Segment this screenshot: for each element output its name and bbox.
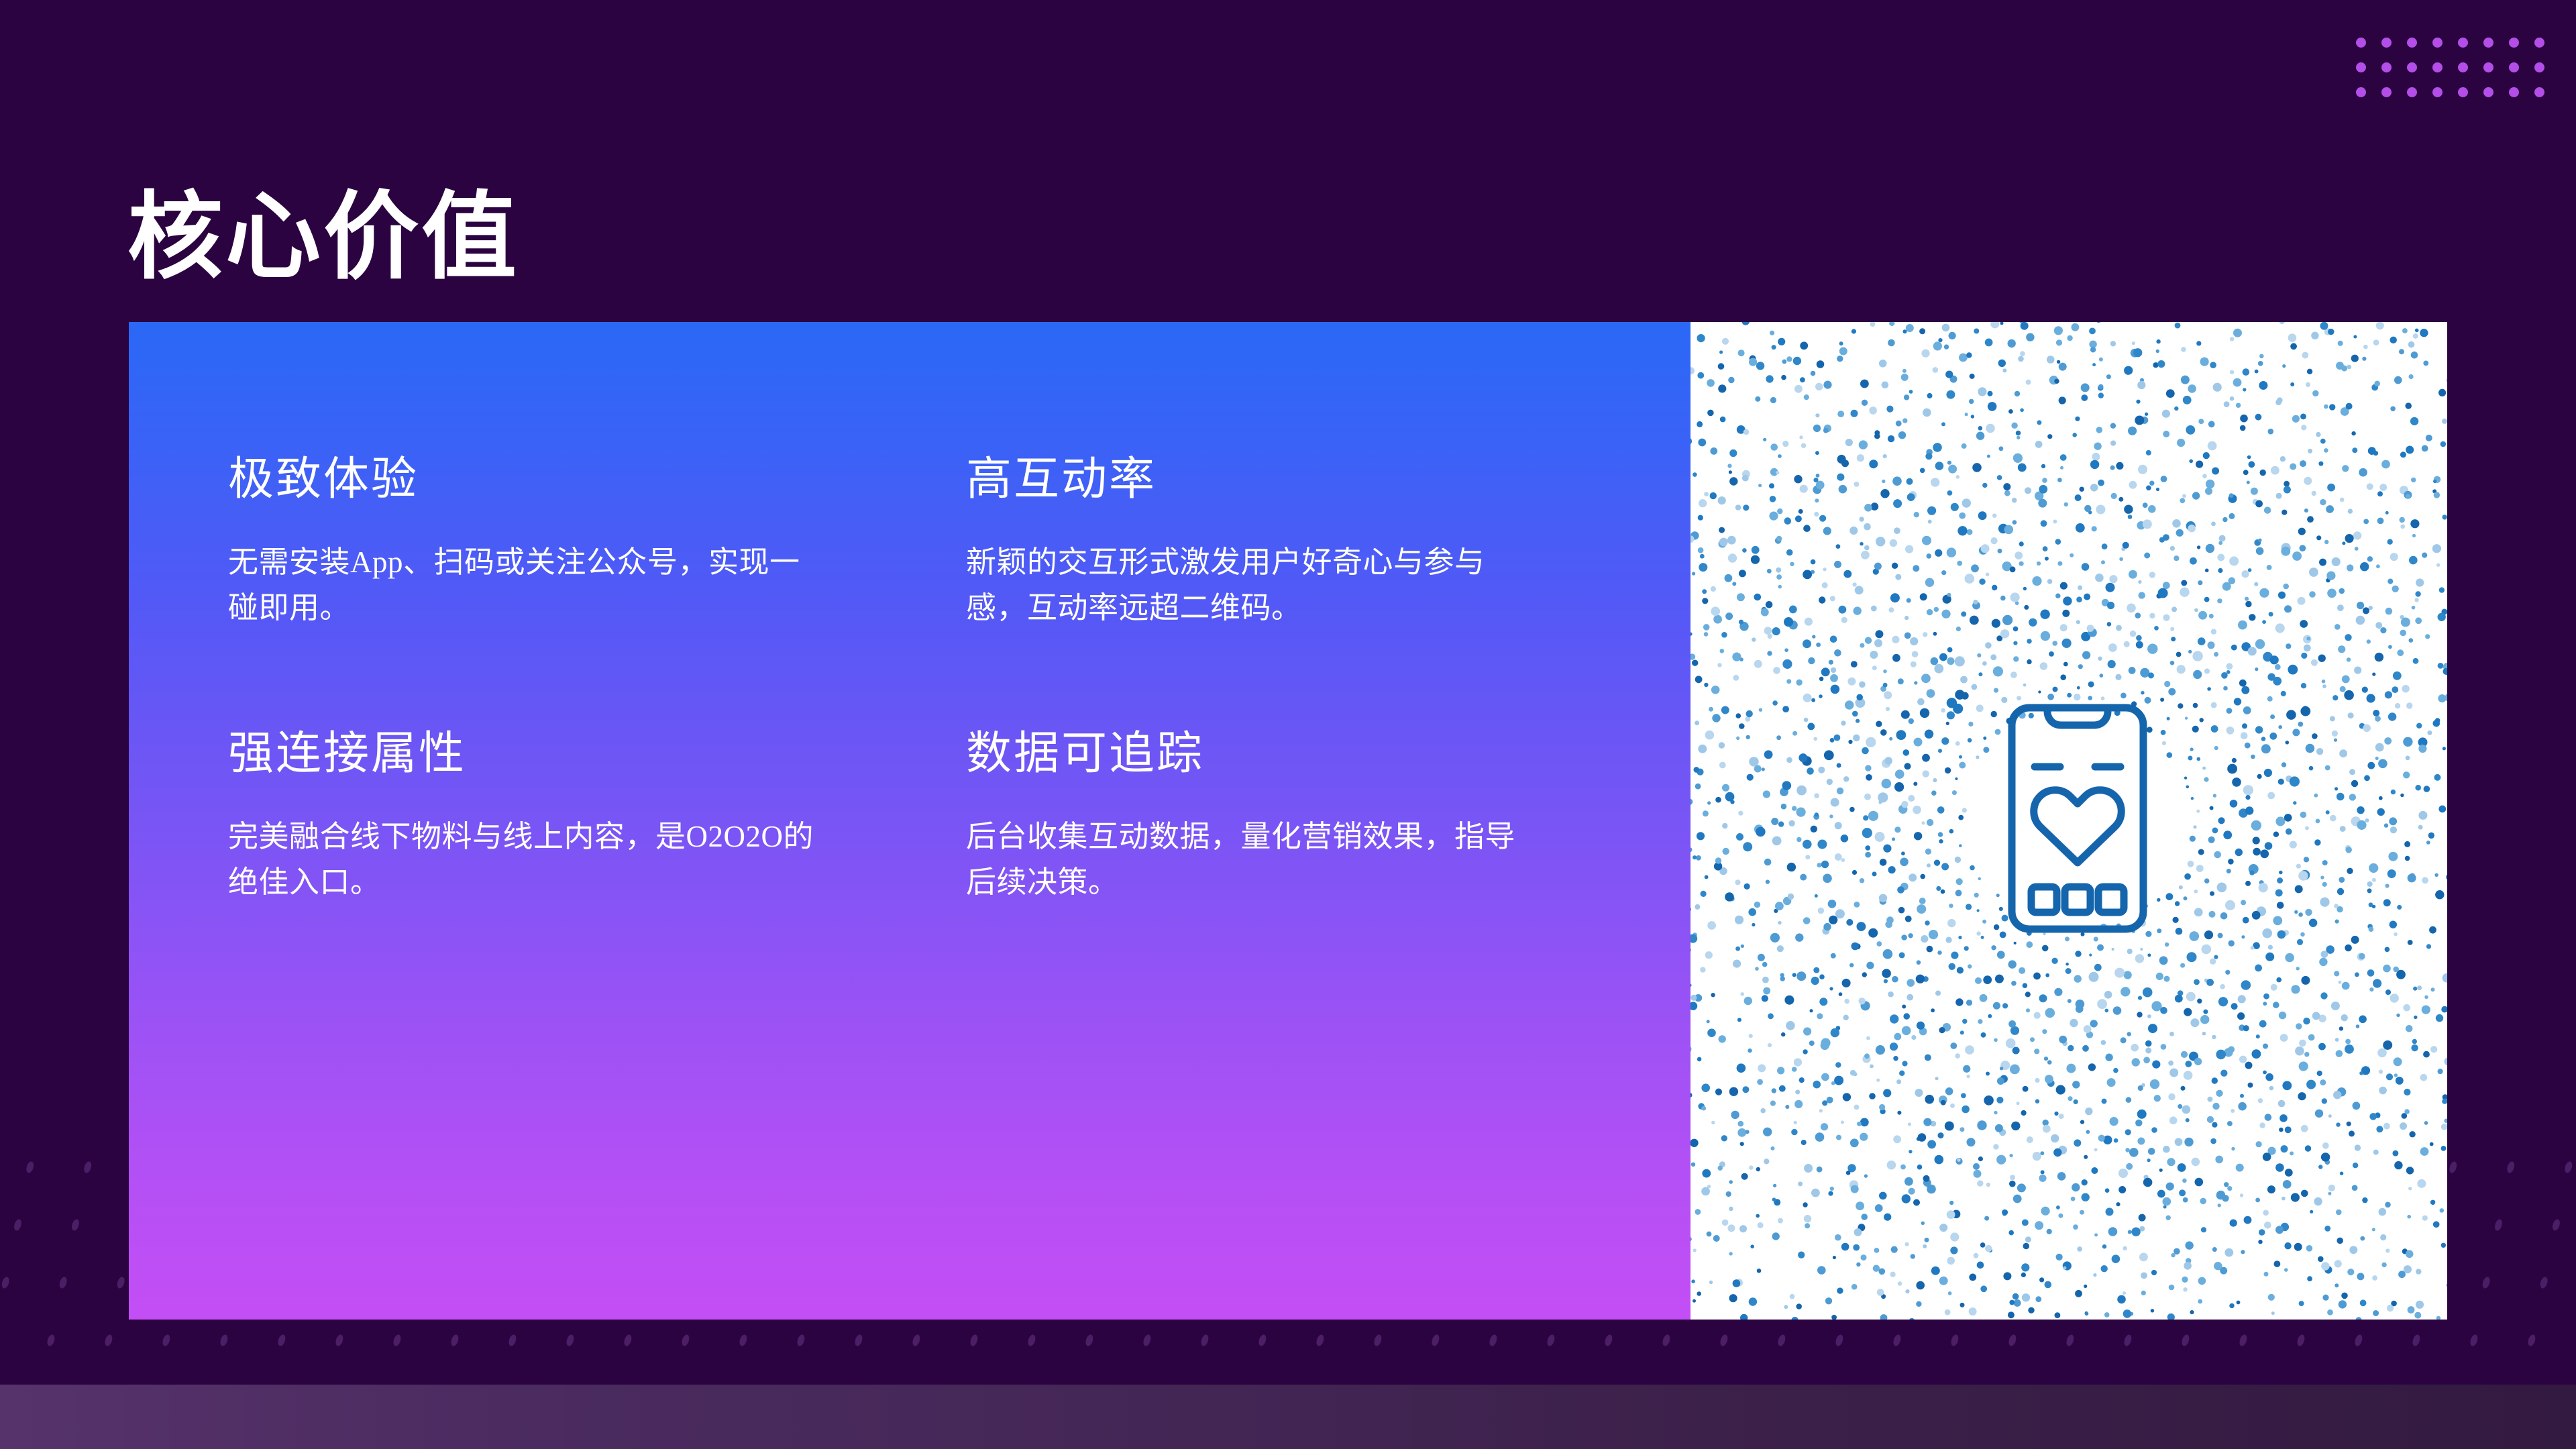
halftone-dot (1892, 563, 1898, 569)
halftone-dot (1828, 900, 1837, 908)
halftone-dot (2175, 323, 2181, 329)
halftone-dot (2100, 674, 2104, 678)
halftone-dot (1705, 875, 1709, 879)
halftone-dot (2259, 588, 2269, 598)
halftone-dot (2147, 727, 2153, 733)
halftone-dot (2388, 852, 2398, 861)
halftone-dot (1908, 1122, 1911, 1126)
halftone-dot (2208, 421, 2215, 427)
halftone-dot (1707, 1232, 1712, 1237)
halftone-dot (1796, 786, 1807, 796)
halftone-dot (2264, 769, 2272, 777)
halftone-dot (2057, 478, 2062, 482)
halftone-dot (1919, 898, 1926, 904)
halftone-dot (2190, 557, 2197, 565)
halftone-dot (1931, 790, 1937, 796)
halftone-dot (1790, 562, 1794, 566)
halftone-dot (1936, 886, 1941, 891)
halftone-dot (2202, 767, 2206, 770)
halftone-dot (1966, 1000, 1972, 1006)
halftone-dot (1991, 945, 1996, 950)
halftone-dot (1718, 384, 1726, 392)
halftone-dot (2150, 1079, 2159, 1089)
halftone-dot (2420, 1074, 2428, 1081)
halftone-dot (2146, 486, 2151, 491)
halftone-dot (2349, 769, 2355, 775)
halftone-dot (1883, 683, 1888, 688)
halftone-dot (1883, 845, 1891, 853)
halftone-dot (1880, 1314, 1888, 1320)
halftone-dot (2010, 566, 2016, 572)
halftone-dot (2014, 1299, 2021, 1307)
halftone-dot (2252, 1049, 2261, 1059)
halftone-dot (1977, 1262, 1984, 1269)
halftone-dot (2314, 794, 2318, 798)
halftone-dot (1896, 730, 1907, 740)
halftone-dot (2275, 1226, 2284, 1234)
halftone-dot (1803, 694, 1812, 702)
halftone-dot (2424, 996, 2428, 999)
halftone-dot (2425, 634, 2430, 639)
halftone-dot (2340, 686, 2346, 692)
halftone-dot (2351, 355, 2359, 362)
halftone-dot (2185, 1061, 2192, 1067)
halftone-dot (2226, 663, 2233, 669)
halftone-dot (1830, 636, 1837, 643)
halftone-dot (1852, 582, 1856, 586)
halftone-dot (2353, 335, 2357, 339)
halftone-dot (1977, 1180, 1983, 1186)
halftone-dot (1907, 979, 1915, 987)
halftone-dot (2182, 494, 2186, 498)
halftone-dot (1835, 822, 1842, 829)
halftone-dot (1762, 767, 1765, 771)
halftone-dot (2139, 1214, 2146, 1222)
halftone-dot (1892, 837, 1895, 841)
halftone-dot (1693, 1248, 1697, 1252)
halftone-dot (1690, 367, 1695, 374)
halftone-dot (2157, 1190, 2165, 1198)
halftone-dot (1875, 630, 1883, 638)
halftone-dot (1971, 415, 1974, 418)
decor-dot (2483, 38, 2493, 48)
halftone-dot (2193, 670, 2202, 679)
halftone-dot (1939, 1277, 1948, 1285)
halftone-dot (2094, 1148, 2098, 1151)
halftone-dot (2180, 588, 2189, 597)
halftone-dot (1749, 1165, 1753, 1169)
halftone-dot (1776, 735, 1781, 740)
halftone-dot (1801, 443, 1806, 448)
halftone-dot (1851, 1185, 1859, 1193)
halftone-dot (2230, 800, 2238, 808)
halftone-dot (2318, 655, 2326, 662)
halftone-dot (1857, 1122, 1862, 1126)
halftone-dot (2198, 637, 2206, 645)
halftone-dot (2322, 684, 2326, 688)
halftone-dot (1693, 472, 1697, 477)
halftone-dot (1907, 493, 1915, 501)
halftone-dot (1819, 974, 1825, 979)
halftone-dot (1875, 1204, 1883, 1212)
halftone-burst-illustration (1690, 322, 2447, 1320)
halftone-dot (1899, 952, 1905, 958)
halftone-dot (2084, 1155, 2088, 1159)
halftone-dot (2342, 982, 2350, 990)
halftone-dot (2282, 1081, 2292, 1090)
halftone-dot (2074, 694, 2080, 700)
halftone-dot (1698, 515, 1703, 521)
halftone-dot (2334, 971, 2339, 976)
halftone-dot (2006, 1038, 2016, 1049)
halftone-dot (1994, 1111, 1997, 1114)
halftone-dot (2381, 460, 2390, 469)
halftone-dot (1927, 553, 1932, 559)
halftone-dot (1860, 380, 1869, 388)
halftone-dot (2438, 1069, 2443, 1074)
halftone-dot (1846, 919, 1853, 926)
halftone-dot (2019, 541, 2024, 546)
halftone-dot (2288, 333, 2297, 342)
halftone-dot (1691, 1279, 1695, 1283)
halftone-dot (2192, 492, 2200, 499)
halftone-dot (1762, 962, 1768, 967)
halftone-dot (1880, 859, 1887, 866)
halftone-dot (2309, 568, 2318, 577)
halftone-dot (1877, 1289, 1884, 1296)
halftone-dot (2300, 460, 2306, 467)
halftone-dot (2143, 502, 2148, 508)
halftone-dot (2446, 873, 2447, 880)
halftone-dot (2085, 1108, 2092, 1115)
halftone-dot (2375, 622, 2382, 629)
halftone-dot (1729, 1180, 1733, 1184)
halftone-dot (1985, 1245, 1992, 1252)
halftone-dot (2004, 490, 2010, 496)
halftone-dot (2275, 890, 2283, 897)
halftone-dot (1982, 661, 1987, 666)
halftone-dot (1815, 1132, 1825, 1142)
halftone-dot (2047, 1229, 2052, 1234)
halftone-dot (2065, 963, 2069, 966)
halftone-dot (1819, 596, 1825, 603)
halftone-dot (1837, 1287, 1843, 1293)
halftone-dot (2334, 1260, 2342, 1267)
halftone-dot (1921, 935, 1928, 943)
halftone-dot (1776, 471, 1779, 474)
halftone-dot (2394, 932, 2397, 936)
halftone-dot (2055, 594, 2060, 598)
halftone-dot (2336, 1210, 2342, 1216)
halftone-dot (1776, 568, 1781, 573)
halftone-dot (2102, 1099, 2107, 1104)
halftone-dot (2245, 601, 2251, 607)
halftone-dot (1746, 735, 1750, 739)
halftone-dot (2047, 1060, 2052, 1065)
halftone-dot (2088, 1063, 2096, 1071)
halftone-dot (2119, 557, 2123, 561)
halftone-dot (2171, 1253, 2175, 1257)
halftone-dot (2148, 1024, 2157, 1033)
halftone-dot (1937, 951, 1941, 955)
halftone-dot (1939, 1027, 1945, 1033)
halftone-dot (1719, 742, 1725, 748)
halftone-dot (2163, 614, 2169, 621)
halftone-dot (1690, 799, 1693, 805)
halftone-dot (2338, 981, 2341, 984)
halftone-dot (2019, 561, 2024, 566)
halftone-dot (2275, 623, 2285, 633)
halftone-dot (1904, 616, 1909, 620)
halftone-dot (2092, 453, 2100, 461)
halftone-dot (1690, 983, 1692, 987)
halftone-dot (2299, 1061, 2308, 1071)
halftone-dot (1993, 1002, 2000, 1010)
halftone-dot (2194, 825, 2197, 828)
halftone-dot (2151, 1270, 2157, 1275)
halftone-dot (1701, 1106, 1706, 1111)
halftone-dot (1726, 1191, 1731, 1197)
halftone-dot (1786, 356, 1792, 362)
halftone-dot (1769, 483, 1774, 488)
halftone-dot (2151, 1309, 2154, 1312)
halftone-dot (1947, 698, 1957, 708)
halftone-dot (1856, 694, 1863, 701)
halftone-dot (2090, 1020, 2098, 1027)
halftone-dot (2408, 940, 2413, 945)
halftone-dot (1718, 496, 1726, 504)
halftone-dot (2054, 379, 2059, 384)
halftone-dot (2375, 757, 2379, 760)
halftone-dot (1702, 598, 1708, 604)
halftone-dot (2438, 389, 2446, 396)
halftone-dot (1923, 409, 1931, 417)
halftone-dot (1921, 674, 1931, 683)
halftone-dot (2126, 1163, 2133, 1170)
halftone-dot (2384, 823, 2388, 827)
halftone-dot (1894, 527, 1900, 534)
halftone-dot (2020, 351, 2025, 356)
halftone-dot (2198, 849, 2204, 855)
halftone-dot (1929, 930, 1938, 939)
halftone-dot (1711, 606, 1720, 616)
halftone-dot (2190, 836, 2196, 842)
halftone-dot (2075, 951, 2081, 957)
halftone-dot (1986, 1072, 1990, 1076)
halftone-dot (2409, 638, 2414, 643)
halftone-dot (1922, 821, 1925, 824)
halftone-dot (2325, 765, 2330, 771)
halftone-dot (2393, 1150, 2399, 1157)
halftone-dot (2132, 341, 2135, 345)
halftone-dot (1760, 1108, 1766, 1114)
halftone-dot (1892, 636, 1899, 643)
halftone-dot (2218, 568, 2222, 573)
halftone-dot (2121, 1037, 2127, 1043)
halftone-dot (1945, 1087, 1953, 1095)
halftone-dot (2181, 347, 2186, 352)
halftone-dot (2212, 1122, 2217, 1128)
halftone-dot (2269, 612, 2273, 616)
halftone-dot (2415, 591, 2420, 596)
halftone-dot (1748, 908, 1756, 916)
halftone-dot (2385, 608, 2393, 615)
halftone-dot (2129, 570, 2137, 579)
halftone-dot (2398, 906, 2402, 910)
halftone-dot (2380, 1234, 2386, 1240)
halftone-dot (1733, 960, 1741, 968)
halftone-dot (2045, 557, 2049, 561)
halftone-dot (2241, 980, 2251, 990)
halftone-dot (2359, 953, 2365, 959)
halftone-dot (2268, 429, 2274, 435)
halftone-dot (2186, 425, 2195, 435)
halftone-dot (1862, 972, 1867, 977)
halftone-dot (1931, 1267, 1940, 1275)
halftone-dot (2108, 660, 2116, 668)
halftone-dot (2226, 670, 2231, 674)
halftone-dot (1901, 710, 1910, 719)
halftone-dot (1925, 920, 1929, 925)
halftone-dot (2379, 1208, 2387, 1216)
halftone-dot (1739, 620, 1743, 625)
halftone-dot (2356, 1317, 2362, 1320)
halftone-dot (2039, 485, 2047, 494)
halftone-dot (2229, 493, 2234, 498)
halftone-dot (2124, 641, 2130, 647)
halftone-dot (1947, 1210, 1955, 1219)
halftone-dot (2055, 539, 2061, 545)
halftone-dot (2412, 606, 2416, 610)
halftone-dot (2433, 720, 2440, 727)
halftone-dot (2357, 1273, 2364, 1280)
halftone-dot (2169, 1116, 2178, 1124)
halftone-dot (1911, 1254, 1915, 1258)
halftone-dot (2000, 932, 2006, 938)
halftone-dot (2037, 420, 2041, 425)
halftone-dot (2241, 570, 2249, 578)
halftone-dot (2276, 493, 2282, 499)
halftone-dot (2301, 653, 2307, 659)
halftone-dot (1917, 698, 1925, 706)
halftone-dot (2360, 1236, 2365, 1241)
halftone-dot (2149, 481, 2154, 486)
halftone-dot (1837, 474, 1844, 481)
halftone-dot (2251, 946, 2255, 950)
halftone-dot (2053, 520, 2057, 524)
halftone-dot (2353, 531, 2361, 539)
halftone-dot (2367, 694, 2375, 702)
halftone-dot (1951, 503, 1959, 511)
halftone-dot (1973, 600, 1978, 604)
halftone-dot (2395, 703, 2400, 708)
halftone-dot (2152, 1061, 2160, 1069)
halftone-dot (2217, 883, 2227, 893)
halftone-dot (2166, 1216, 2171, 1220)
halftone-dot (2396, 1014, 2400, 1017)
halftone-dot (2171, 606, 2177, 612)
halftone-dot (1704, 632, 1709, 637)
halftone-dot (2385, 691, 2392, 698)
halftone-dot (1694, 767, 1700, 773)
halftone-dot (2243, 368, 2250, 376)
halftone-dot (1970, 374, 1975, 379)
halftone-dot (2041, 520, 2047, 527)
halftone-dot (1978, 1157, 1983, 1161)
halftone-dot (1969, 1307, 1977, 1316)
halftone-dot (2405, 856, 2410, 861)
halftone-dot (1749, 1297, 1757, 1305)
halftone-dot (2130, 631, 2137, 637)
halftone-dot (2124, 971, 2132, 979)
halftone-dot (1998, 360, 2006, 367)
halftone-dot (1995, 975, 2004, 983)
halftone-dot (1901, 851, 1905, 855)
halftone-dot (2304, 1052, 2309, 1057)
halftone-dot (2200, 358, 2209, 366)
halftone-dot (1933, 367, 1939, 373)
halftone-dot (2121, 693, 2127, 699)
halftone-dot (1997, 951, 2005, 959)
halftone-dot (2105, 1188, 2110, 1193)
halftone-dot (2101, 1265, 2108, 1272)
halftone-dot (1799, 509, 1803, 514)
halftone-dot (1851, 329, 1856, 333)
halftone-dot (2226, 708, 2233, 714)
halftone-dot (2316, 432, 2320, 437)
halftone-dot (2279, 322, 2285, 324)
halftone-dot (1991, 537, 1998, 544)
halftone-dot (2434, 492, 2440, 498)
halftone-dot (1908, 795, 1915, 802)
halftone-dot (1894, 1033, 1901, 1040)
halftone-dot (1804, 394, 1809, 400)
halftone-dot (1853, 735, 1860, 741)
halftone-dot (2433, 1221, 2440, 1228)
halftone-dot (2270, 714, 2275, 719)
halftone-dot (2196, 341, 2201, 345)
halftone-dot (2101, 696, 2105, 700)
halftone-dot (1941, 1100, 1946, 1106)
halftone-dot (1977, 653, 1981, 657)
halftone-dot (1784, 996, 1794, 1005)
halftone-dot (2271, 984, 2277, 991)
halftone-dot (2075, 1290, 2082, 1297)
halftone-dot (2094, 322, 2102, 323)
halftone-dot (2402, 685, 2409, 692)
halftone-dot (2316, 819, 2320, 824)
halftone-dot (2098, 392, 2104, 398)
halftone-dot (1715, 1089, 1722, 1095)
halftone-dot (1817, 840, 1827, 849)
halftone-dot (1814, 793, 1819, 798)
halftone-dot (2163, 582, 2170, 589)
halftone-dot (1834, 735, 1841, 741)
halftone-dot (1752, 923, 1755, 926)
halftone-dot (2426, 944, 2431, 949)
halftone-dot (1803, 525, 1811, 532)
halftone-dot (2194, 979, 2200, 985)
halftone-dot (2212, 468, 2219, 475)
halftone-dot (2080, 1120, 2084, 1124)
halftone-dot (1835, 1062, 1841, 1067)
halftone-dot (2241, 1250, 2245, 1254)
halftone-dot (1915, 1089, 1923, 1097)
halftone-dot (2108, 1227, 2118, 1236)
halftone-dot (2035, 1078, 2039, 1083)
halftone-dot (2275, 1163, 2284, 1172)
halftone-dot (2033, 973, 2041, 980)
